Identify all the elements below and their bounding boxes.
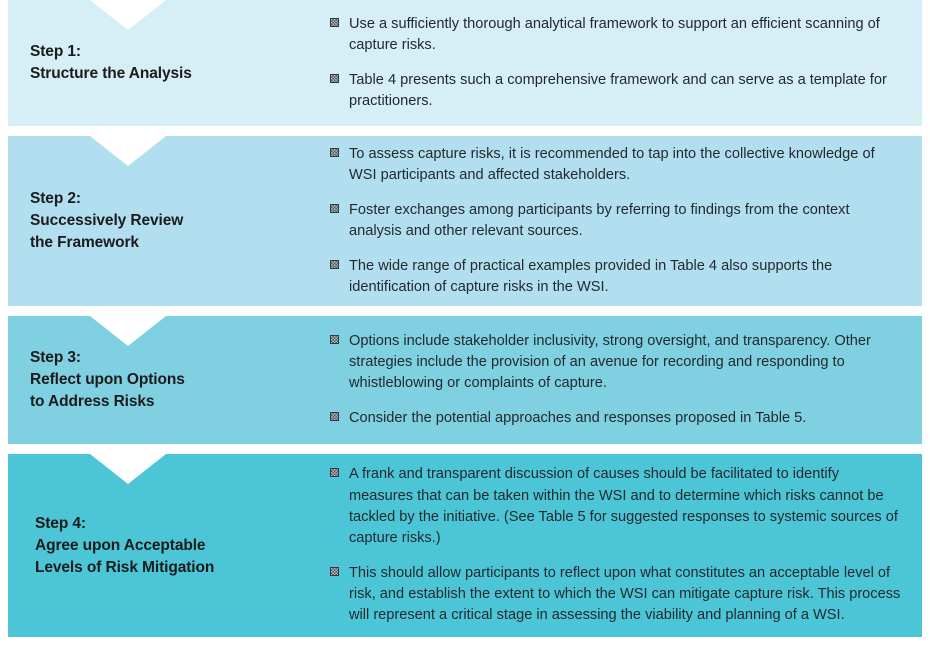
list-item: Table 4 presents such a comprehensive fr… bbox=[330, 70, 902, 112]
capture-risk-process-diagram: Step 1: Structure the Analysis Use a suf… bbox=[0, 0, 930, 647]
step-1-number: Step 1: bbox=[30, 41, 330, 63]
bullet-text: Foster exchanges among participants by r… bbox=[349, 202, 850, 239]
step-1-bullets-cell: Use a sufficiently thorough analytical f… bbox=[330, 0, 922, 126]
step-1-label: Step 1: Structure the Analysis bbox=[30, 41, 330, 85]
hatched-square-bullet-icon bbox=[330, 18, 339, 27]
step-2-label-cell: Step 2: Successively Reviewthe Framework bbox=[8, 136, 330, 306]
list-item: The wide range of practical examples pro… bbox=[330, 256, 902, 298]
step-4-label: Step 4: Agree upon AcceptableLevels of R… bbox=[35, 513, 330, 579]
hatched-square-bullet-icon bbox=[330, 412, 339, 421]
step-3-label: Step 3: Reflect upon Optionsto Address R… bbox=[30, 347, 330, 413]
process-step-band-1: Step 1: Structure the Analysis Use a suf… bbox=[8, 0, 922, 126]
hatched-square-bullet-icon bbox=[330, 74, 339, 83]
step-2-number: Step 2: bbox=[30, 188, 330, 210]
step-1-title: Structure the Analysis bbox=[30, 63, 330, 85]
bullet-text: Consider the potential approaches and re… bbox=[349, 410, 806, 426]
step-4-number: Step 4: bbox=[35, 513, 330, 535]
step-2-bullets-cell: To assess capture risks, it is recommend… bbox=[330, 136, 922, 306]
step-2-title: Successively Reviewthe Framework bbox=[30, 210, 330, 254]
list-item: This should allow participants to reflec… bbox=[330, 563, 902, 626]
step-4-bullets-cell: A frank and transparent discussion of ca… bbox=[330, 454, 922, 637]
step-4-title: Agree upon AcceptableLevels of Risk Miti… bbox=[35, 535, 330, 579]
bullet-text: Use a sufficiently thorough analytical f… bbox=[349, 16, 880, 53]
step-4-label-cell: Step 4: Agree upon AcceptableLevels of R… bbox=[8, 454, 330, 637]
list-item: Consider the potential approaches and re… bbox=[330, 408, 902, 429]
hatched-square-bullet-icon bbox=[330, 204, 339, 213]
step-2-label: Step 2: Successively Reviewthe Framework bbox=[30, 188, 330, 254]
hatched-square-bullet-icon bbox=[330, 260, 339, 269]
bullet-text: This should allow participants to reflec… bbox=[349, 565, 900, 623]
step-3-bullets-cell: Options include stakeholder inclusivity,… bbox=[330, 316, 922, 444]
hatched-square-bullet-icon bbox=[330, 468, 339, 477]
process-step-band-3: Step 3: Reflect upon Optionsto Address R… bbox=[8, 316, 922, 444]
hatched-square-bullet-icon bbox=[330, 335, 339, 344]
step-1-bullet-list: Use a sufficiently thorough analytical f… bbox=[330, 14, 902, 113]
step-3-number: Step 3: bbox=[30, 347, 330, 369]
bullet-text: Options include stakeholder inclusivity,… bbox=[349, 333, 871, 391]
list-item: Use a sufficiently thorough analytical f… bbox=[330, 14, 902, 56]
step-2-bullet-list: To assess capture risks, it is recommend… bbox=[330, 144, 902, 299]
list-item: Options include stakeholder inclusivity,… bbox=[330, 331, 902, 394]
bullet-text: The wide range of practical examples pro… bbox=[349, 258, 832, 295]
list-item: Foster exchanges among participants by r… bbox=[330, 200, 902, 242]
bullet-text: Table 4 presents such a comprehensive fr… bbox=[349, 72, 887, 109]
step-3-title: Reflect upon Optionsto Address Risks bbox=[30, 369, 330, 413]
list-item: To assess capture risks, it is recommend… bbox=[330, 144, 902, 186]
process-step-band-2: Step 2: Successively Reviewthe Framework… bbox=[8, 136, 922, 306]
bullet-text: A frank and transparent discussion of ca… bbox=[349, 466, 898, 545]
hatched-square-bullet-icon bbox=[330, 567, 339, 576]
step-3-label-cell: Step 3: Reflect upon Optionsto Address R… bbox=[8, 316, 330, 444]
list-item: A frank and transparent discussion of ca… bbox=[330, 464, 902, 549]
step-4-bullet-list: A frank and transparent discussion of ca… bbox=[330, 464, 902, 626]
process-step-band-4: Step 4: Agree upon AcceptableLevels of R… bbox=[8, 454, 922, 637]
hatched-square-bullet-icon bbox=[330, 148, 339, 157]
bullet-text: To assess capture risks, it is recommend… bbox=[349, 146, 875, 183]
step-3-bullet-list: Options include stakeholder inclusivity,… bbox=[330, 331, 902, 430]
step-1-label-cell: Step 1: Structure the Analysis bbox=[8, 0, 330, 126]
